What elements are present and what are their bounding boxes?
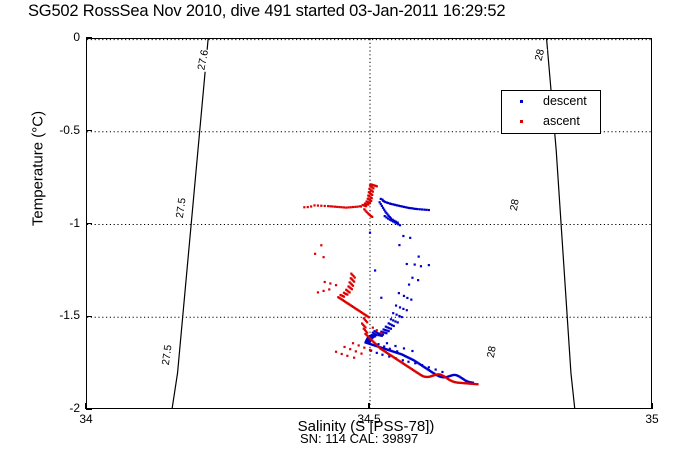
y-tick-label: -0.5 [40,123,80,137]
legend: descent ascent [501,90,601,134]
legend-item-descent: descent [502,92,600,112]
y-tick-label: -1.5 [40,308,80,322]
contour-label: 28 [508,197,522,213]
page-title: SG502 RossSea Nov 2010, dive 491 started… [28,2,505,21]
legend-label-descent: descent [543,94,587,108]
legend-label-ascent: ascent [543,114,580,128]
scatter-series-ascent [303,183,478,385]
x-tick-label: 34.5 [339,412,399,426]
scatter-series-descent [364,198,474,384]
instrument-footer: SN: 114 CAL: 39897 [300,431,418,446]
legend-marker-ascent [520,120,523,123]
contour-label: 28 [485,344,499,360]
x-tick-label: 34 [56,412,116,426]
y-axis-label: Temperature (°C) [30,69,47,269]
x-tick-label: 35 [622,412,681,426]
legend-item-ascent: ascent [502,112,600,132]
y-tick-label: -1 [40,216,80,230]
y-tick-label: 0 [40,30,80,44]
ts-diagram-figure: SG502 RossSea Nov 2010, dive 491 started… [0,0,681,454]
legend-marker-descent [520,100,523,103]
